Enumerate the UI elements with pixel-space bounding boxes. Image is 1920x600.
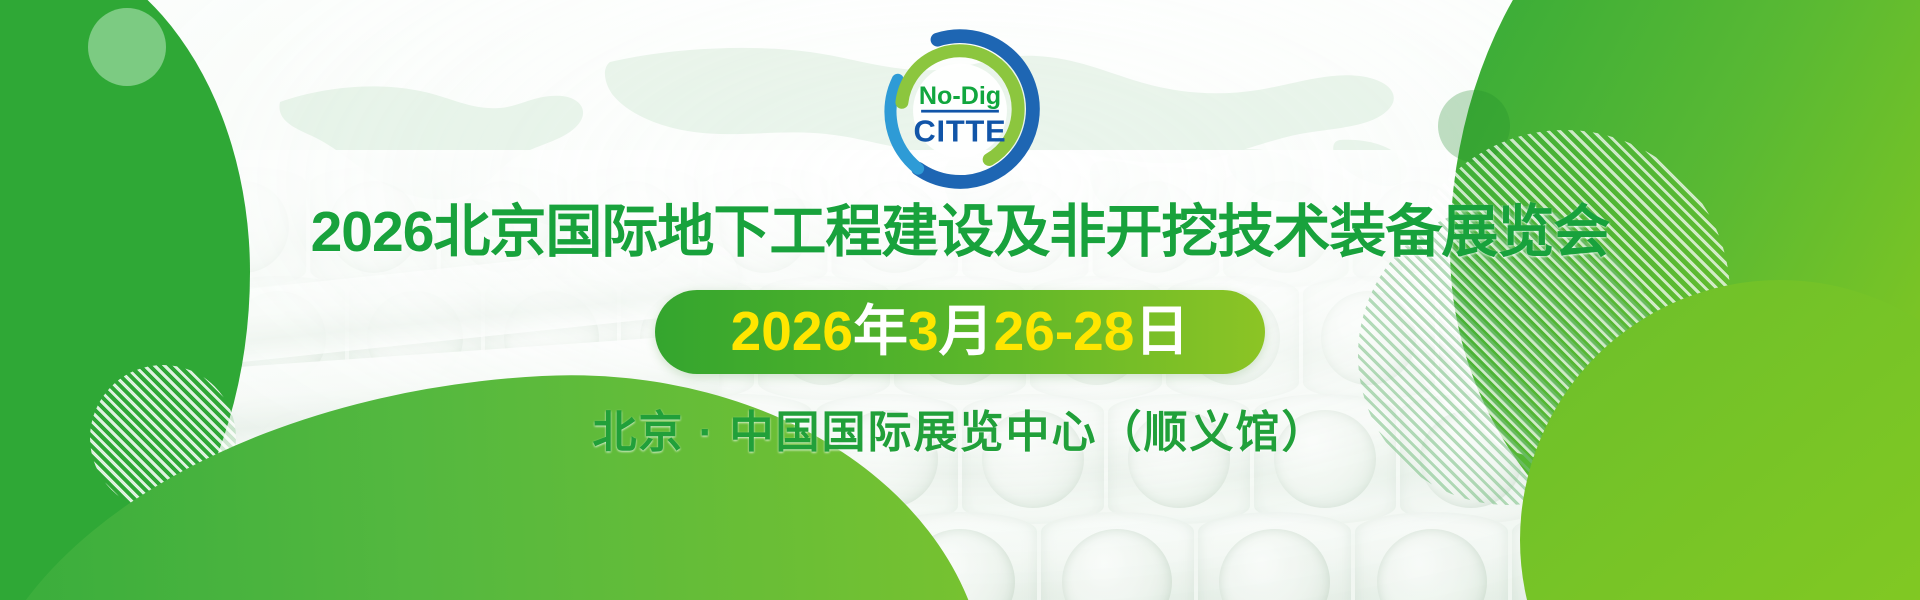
no-dig-citte-logo: No-Dig CITTE [879,28,1041,190]
date-day-label: 日 [1134,300,1189,362]
logo-text-citte: CITTE [914,113,1007,148]
venue-text: 北京 · 中国国际展览中心（顺义馆） [592,396,1327,460]
date-month: 3 [908,300,939,362]
exhibition-banner: No-Dig CITTE 2026北京国际地下工程建设及非开挖技术装备展览会 2… [0,0,1920,600]
event-date-pill: 2026年3月26-28日 [655,290,1265,374]
date-month-label: 月 [939,300,994,362]
logo-text-no-dig: No-Dig [919,82,1001,110]
banner-content: No-Dig CITTE 2026北京国际地下工程建设及非开挖技术装备展览会 2… [0,0,1920,600]
date-year-label: 年 [853,300,908,362]
page-title: 2026北京国际地下工程建设及非开挖技术装备展览会 [311,202,1610,264]
event-date-text: 2026年3月26-28日 [731,304,1190,359]
date-days: 26-28 [994,300,1135,362]
date-year: 2026 [731,300,853,362]
